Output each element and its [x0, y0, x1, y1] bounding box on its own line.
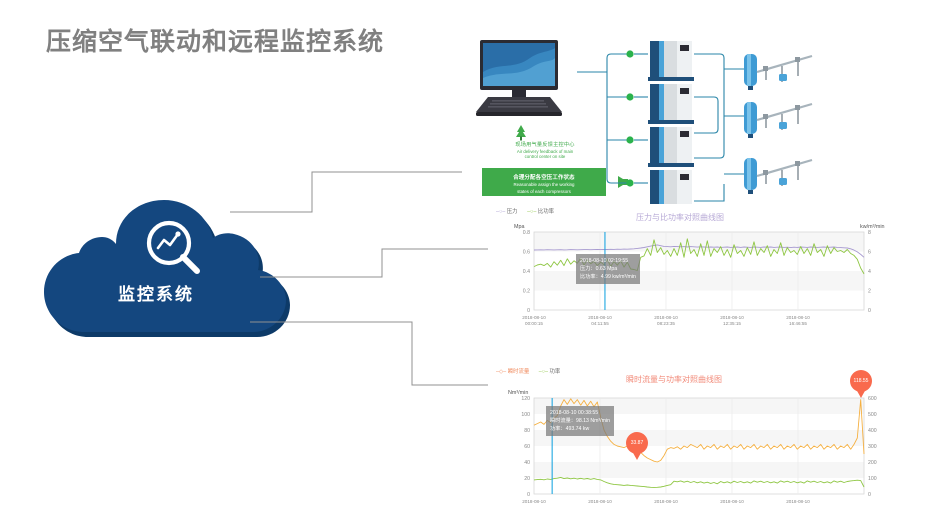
flow-power-chart[interactable]: –◇– 瞬时流量 –○– 功率 瞬时流量与功率对照曲线图 Nm³/min 020… [488, 364, 940, 524]
svg-text:2018-08-10: 2018-08-10 [786, 499, 810, 504]
slide-canvas: 压缩空气联动和远程监控系统 监控系统 [0, 0, 945, 529]
chart2-marker-label: 118.55 [854, 378, 869, 384]
svg-text:100: 100 [868, 476, 877, 482]
svg-text:200: 200 [868, 460, 877, 466]
magnifier-chart-icon [144, 218, 204, 278]
svg-text:40: 40 [524, 460, 530, 466]
svg-text:2018-08-10: 2018-08-10 [522, 499, 546, 504]
svg-text:2018-08-10: 2018-08-10 [588, 315, 612, 320]
chart2-marker-label: 33.87 [631, 440, 644, 446]
svg-text:0: 0 [527, 308, 530, 314]
chart1-tooltip-row1: 压力：0.63 Mpa [580, 265, 636, 273]
svg-text:2018-08-10: 2018-08-10 [522, 315, 546, 320]
svg-text:120: 120 [521, 396, 530, 402]
svg-text:12:35:15: 12:35:15 [723, 321, 741, 326]
svg-text:0: 0 [868, 308, 871, 314]
svg-text:0: 0 [527, 492, 530, 498]
svg-text:0.8: 0.8 [523, 230, 530, 236]
svg-text:500: 500 [868, 412, 877, 418]
marker-pin-icon [856, 389, 866, 398]
chart2-tooltip: 2018-08-10 00:38:55瞬时流量：98.13 Nm³/min功率：… [546, 406, 614, 436]
svg-text:2018-08-10: 2018-08-10 [654, 315, 678, 320]
svg-text:0: 0 [868, 492, 871, 498]
chart2-tooltip-time: 2018-08-10 00:38:55 [550, 409, 610, 417]
chart2-value-marker[interactable]: 33.87 [626, 432, 648, 454]
chart2-plot: 02040608010012001002003004005006002018-0… [488, 364, 940, 524]
svg-text:2018-08-10: 2018-08-10 [720, 315, 744, 320]
svg-text:2018-08-10: 2018-08-10 [786, 315, 810, 320]
svg-text:8: 8 [868, 230, 871, 236]
svg-text:20: 20 [524, 476, 530, 482]
chart2-tooltip-row1: 瞬时流量：98.13 Nm³/min [550, 417, 610, 425]
svg-text:60: 60 [524, 444, 530, 450]
topology-panel: 现场用气量反馈主控中心 Air delivery feedback of mai… [452, 24, 939, 204]
svg-text:100: 100 [521, 412, 530, 418]
marker-pin-icon [632, 451, 642, 460]
svg-text:6: 6 [868, 250, 871, 256]
svg-text:2018-08-10: 2018-08-10 [720, 499, 744, 504]
chart1-plot: 00.20.40.60.8024682018-08-1000:00:152018… [488, 204, 940, 334]
svg-text:2018-08-10: 2018-08-10 [654, 499, 678, 504]
topology-wiring [452, 24, 939, 204]
svg-text:4: 4 [868, 269, 871, 275]
svg-text:0.4: 0.4 [523, 269, 530, 275]
chart2-tooltip-row2: 功率：493.74 kw [550, 425, 610, 433]
svg-text:00:00:15: 00:00:15 [525, 321, 543, 326]
svg-text:80: 80 [524, 428, 530, 434]
svg-text:2018-08-10: 2018-08-10 [588, 499, 612, 504]
svg-text:300: 300 [868, 444, 877, 450]
chart2-value-marker[interactable]: 118.55 [850, 370, 872, 392]
chart1-tooltip-time: 2018-08-10 02:19:55 [580, 257, 636, 265]
svg-text:2: 2 [868, 289, 871, 295]
pressure-power-chart[interactable]: –○– 压力 –○– 比功率 压力与比功率对照曲线图 Mpa kw/m³/min… [488, 204, 940, 334]
svg-text:600: 600 [868, 396, 877, 402]
svg-text:400: 400 [868, 428, 877, 434]
svg-text:04:11:55: 04:11:55 [591, 321, 609, 326]
svg-text:0.6: 0.6 [523, 250, 530, 256]
page-title: 压缩空气联动和远程监控系统 [46, 22, 384, 58]
chart1-tooltip-row2: 比功率：4.99 kw/m³/min [580, 273, 636, 281]
svg-text:0.2: 0.2 [523, 289, 530, 295]
svg-text:08:23:35: 08:23:35 [657, 321, 675, 326]
svg-text:16:46:55: 16:46:55 [789, 321, 807, 326]
chart1-tooltip: 2018-08-10 02:19:55压力：0.63 Mpa比功率：4.99 k… [576, 254, 640, 284]
